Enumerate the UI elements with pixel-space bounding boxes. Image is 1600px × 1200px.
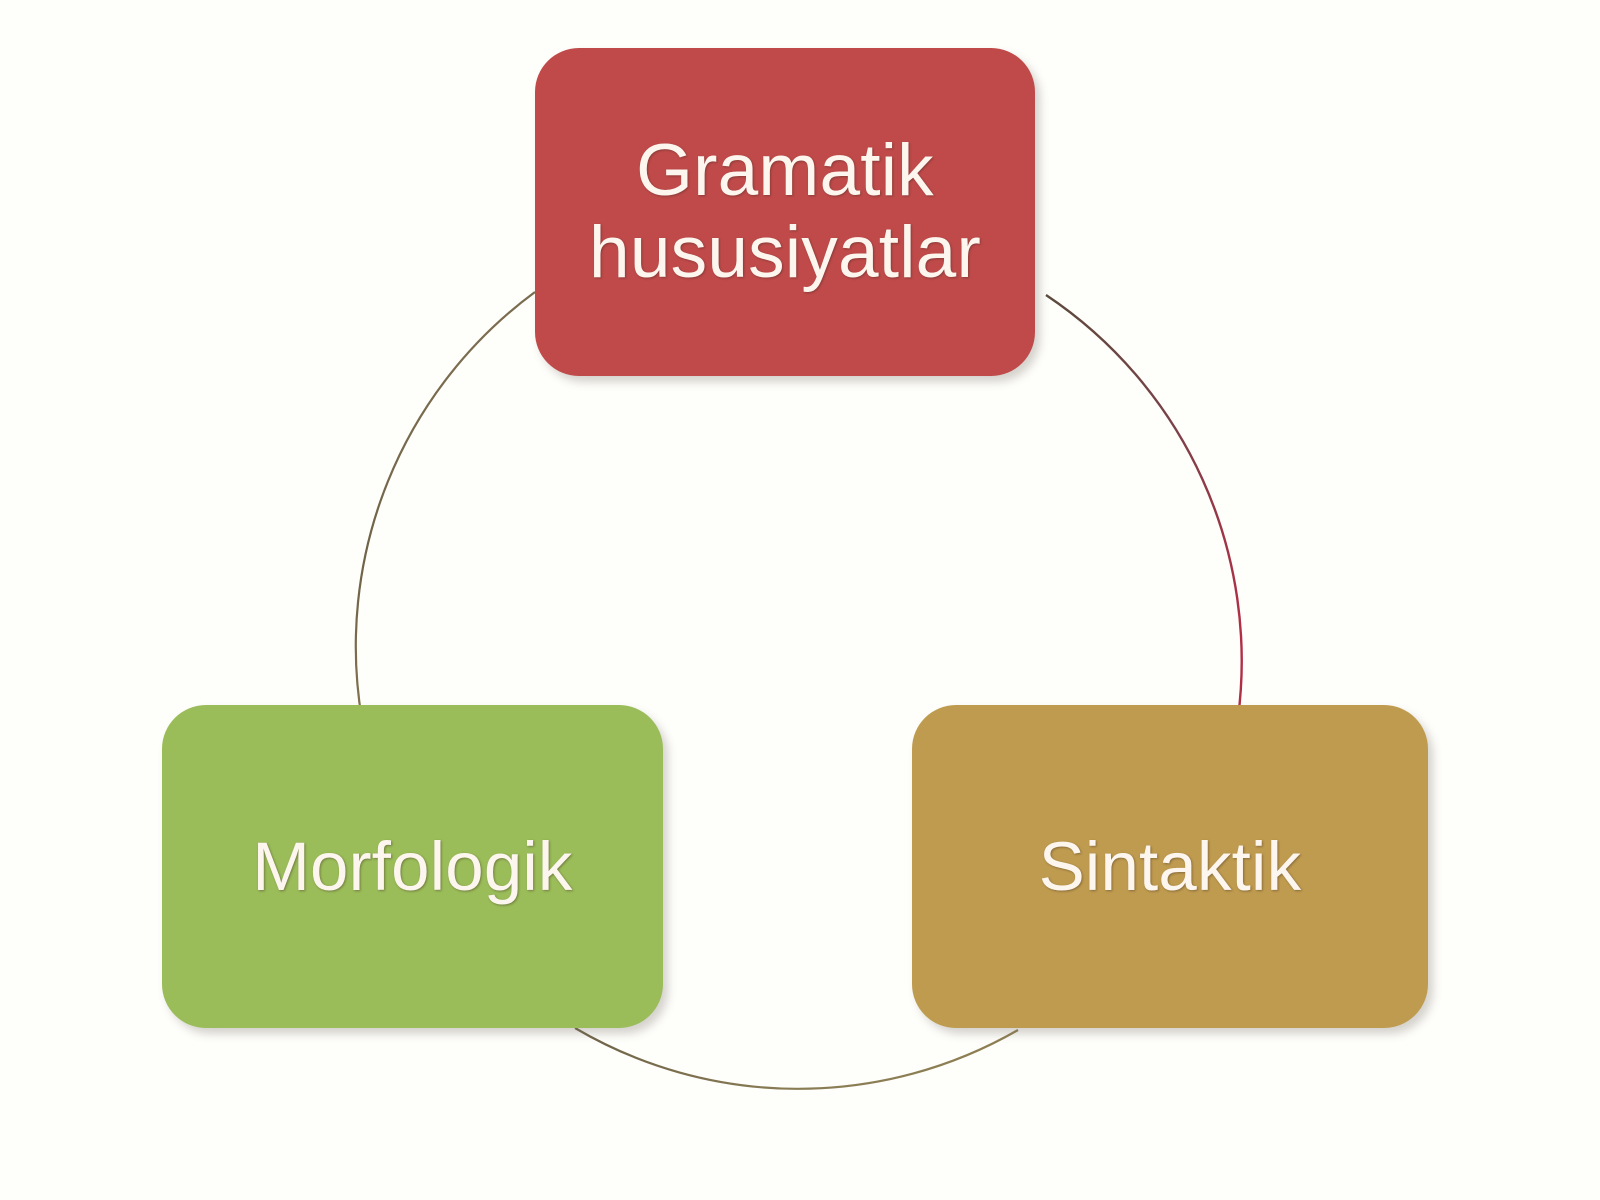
arc-gramatik-to-morfologik — [356, 292, 535, 720]
node-gramatik-hususiyatlar[interactable]: Gramatik hususiyatlar — [535, 48, 1035, 376]
node-gramatik-label: Gramatik hususiyatlar — [589, 130, 981, 294]
arc-gramatik-to-sintaktik — [1046, 295, 1242, 718]
node-sintaktik-label: Sintaktik — [1039, 828, 1302, 905]
cycle-diagram: Gramatik hususiyatlar Morfologik Sintakt… — [0, 0, 1600, 1200]
node-morfologik-label: Morfologik — [252, 828, 572, 905]
arc-morfologik-to-sintaktik — [575, 1028, 1018, 1089]
node-sintaktik[interactable]: Sintaktik — [912, 705, 1428, 1028]
node-morfologik[interactable]: Morfologik — [162, 705, 663, 1028]
